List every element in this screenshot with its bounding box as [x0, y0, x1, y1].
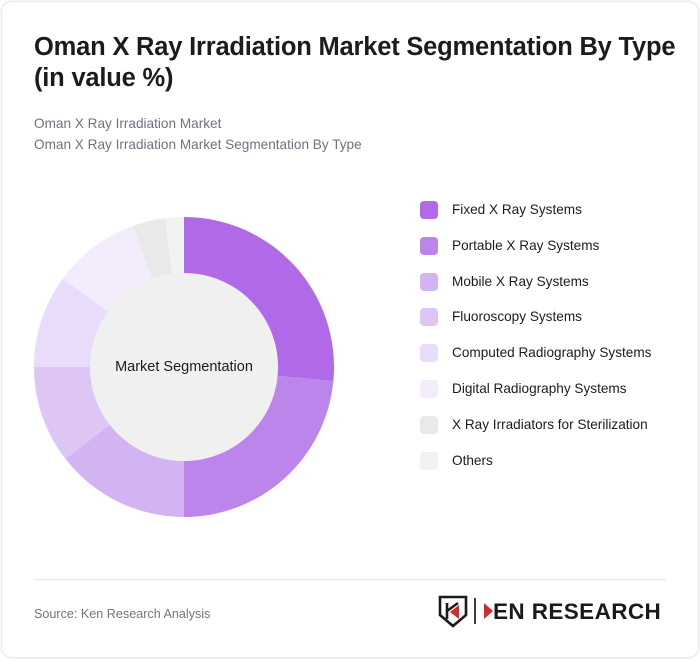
donut-chart: Market Segmentation	[34, 217, 334, 517]
legend-color-swatch	[420, 201, 438, 219]
svg-text:EN RESEARCH: EN RESEARCH	[493, 599, 661, 624]
footer-divider	[34, 579, 666, 580]
legend-item[interactable]: X Ray Irradiators for Sterilization	[420, 415, 670, 434]
legend-item[interactable]: Portable X Ray Systems	[420, 236, 670, 255]
ken-research-logo-svg: EN RESEARCH	[436, 594, 668, 628]
legend-color-swatch	[420, 416, 438, 434]
subtitle-block: Oman X Ray Irradiation Market Oman X Ray…	[34, 114, 634, 155]
legend-item[interactable]: Computed Radiography Systems	[420, 343, 670, 362]
legend-item-label: Mobile X Ray Systems	[452, 272, 589, 291]
source-note: Source: Ken Research Analysis	[34, 607, 210, 621]
legend-item-label: Others	[452, 451, 493, 470]
page-title: Oman X Ray Irradiation Market Segmentati…	[34, 32, 678, 94]
legend-item[interactable]: Fluoroscopy Systems	[420, 307, 670, 326]
donut-hole	[90, 273, 278, 461]
subtitle-line-2: Oman X Ray Irradiation Market Segmentati…	[34, 135, 634, 156]
legend-item-label: Computed Radiography Systems	[452, 343, 651, 362]
legend-item-label: Fluoroscopy Systems	[452, 307, 582, 326]
legend-item[interactable]: Fixed X Ray Systems	[420, 200, 670, 219]
subtitle-line-1: Oman X Ray Irradiation Market	[34, 114, 634, 135]
legend-item[interactable]: Others	[420, 451, 670, 470]
legend-color-swatch	[420, 344, 438, 362]
legend-color-swatch	[420, 452, 438, 470]
legend-item-label: Digital Radiography Systems	[452, 379, 627, 398]
legend-item-label: Fixed X Ray Systems	[452, 200, 582, 219]
ken-research-logo: EN RESEARCH	[436, 594, 668, 628]
legend-item-label: Portable X Ray Systems	[452, 236, 599, 255]
donut-svg	[34, 217, 334, 517]
chart-card: Oman X Ray Irradiation Market Segmentati…	[2, 2, 698, 657]
legend-color-swatch	[420, 308, 438, 326]
legend-color-swatch	[420, 380, 438, 398]
legend-item-label: X Ray Irradiators for Sterilization	[452, 415, 648, 434]
legend-item[interactable]: Digital Radiography Systems	[420, 379, 670, 398]
legend-item[interactable]: Mobile X Ray Systems	[420, 272, 670, 291]
chart-legend: Fixed X Ray SystemsPortable X Ray System…	[420, 200, 670, 486]
legend-color-swatch	[420, 273, 438, 291]
legend-color-swatch	[420, 237, 438, 255]
